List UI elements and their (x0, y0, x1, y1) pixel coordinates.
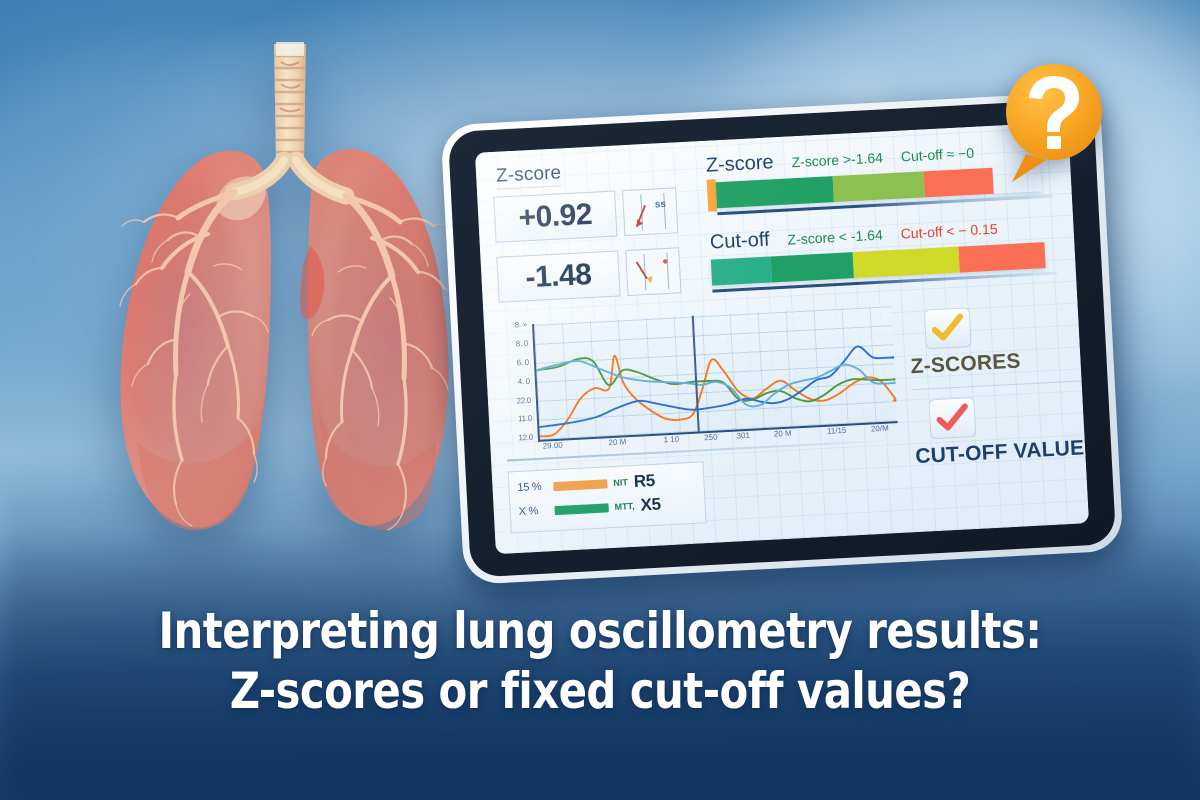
chart-x-tick-label: 250 (704, 433, 718, 443)
checkbox-cutoff-values[interactable] (928, 397, 976, 439)
chart-series-svg (534, 305, 898, 440)
check-icon-amber (930, 312, 966, 344)
bar-segment (833, 171, 925, 202)
chart-y-tick-label: 4. 0 (518, 376, 531, 386)
legend-swatch (554, 503, 608, 515)
oscillometry-chart[interactable]: 8. »8. 06. 04. 022.011.012.0 29.0020 M1 … (500, 305, 902, 533)
chart-series-R5 (536, 341, 898, 437)
bar-segment (770, 252, 854, 282)
chart-x-tick-label: 1 10 (663, 435, 679, 445)
chart-y-tick-label: 8. 0 (516, 339, 529, 349)
mini-trace-down-icon (625, 247, 681, 296)
bar-note-zscore-threshold: Z-score >-1.64 (791, 149, 883, 170)
chart-series-trace-dark-blue (536, 345, 897, 427)
question-badge[interactable] (996, 58, 1112, 186)
legend-series-name: X5 (640, 495, 661, 516)
cutoff-value-box[interactable]: -1.48 (496, 250, 620, 302)
headline-line-2: Z-scores or fixed cut-off values? (42, 662, 1158, 722)
bar-segment (959, 242, 1046, 272)
decision-label-cutoff-values: CUT-OFF VALUES (915, 436, 1089, 470)
mini-trace-up-icon: ss (622, 187, 678, 236)
chart-y-tick-label: 22.0 (516, 395, 531, 405)
decision-cutoff-values[interactable]: CUT-OFF VALUES (912, 391, 1089, 469)
lungs-illustration (78, 22, 498, 562)
results-top-section: Z-score +0.92 ss (492, 137, 1061, 320)
zscore-row: +0.92 ss (493, 186, 695, 242)
chart-x-tick-label: 29.00 (542, 441, 562, 451)
chart-y-tick-label: 8. » (515, 320, 528, 330)
bar-group-cutoff: Cut-off Z-score < -1.64 Cut-off < − 0.15 (709, 213, 1060, 292)
legend-unit: MTT, (614, 501, 634, 512)
decision-zscores[interactable]: Z-SCORES (908, 301, 1089, 379)
bar-segment (924, 168, 994, 198)
chart-x-tick-label: 20/M (871, 424, 889, 434)
zscore-panel: Z-score +0.92 ss (492, 155, 700, 319)
chart-y-tick-label: 6. 0 (517, 358, 530, 368)
tablet-screen[interactable]: Z-score +0.92 ss (475, 122, 1089, 555)
chart-y-axis: 8. »8. 06. 04. 022.011.012.0 (500, 324, 537, 457)
chart-legend: 15 % NIT R5 X % MTT, X5 (508, 461, 707, 533)
chart-plot: 8. »8. 06. 04. 022.011.012.0 29.0020 M1 … (500, 305, 898, 457)
bar-group-title: Cut-off (709, 229, 770, 255)
bar-note-zscore-threshold: Z-score < -1.64 (787, 227, 883, 248)
chart-y-tick-label: 11.0 (518, 414, 532, 424)
zscore-value-box[interactable]: +0.92 (493, 191, 617, 243)
legend-swatch (553, 479, 607, 491)
bar-note-cutoff-threshold: Cut-off ≈ −0 (900, 145, 974, 165)
decision-label-zscores: Z-SCORES (910, 346, 1089, 380)
mini-trace-sub-label: ss (655, 199, 667, 211)
bar-segment (716, 176, 834, 208)
chart-x-tick-label: 301 (736, 431, 750, 441)
chart-y-tick-label: 12.0 (518, 433, 533, 443)
zscore-row: -1.48 (496, 246, 698, 302)
bar-group-title: Z-score (705, 151, 774, 178)
headline-line-1: Interpreting lung oscillometry results: (42, 602, 1158, 662)
legend-unit: NIT (613, 477, 628, 488)
legend-percent: X % (518, 504, 549, 518)
checkbox-zscores[interactable] (924, 307, 972, 349)
chart-x-tick-label: 20 M (608, 437, 626, 447)
legend-percent: 15 % (517, 480, 548, 494)
decision-panel: Z-SCORES CUT-OFF VALUES (901, 295, 1089, 513)
headline: Interpreting lung oscillometry results: … (0, 602, 1200, 721)
human-lungs-anatomy-icon (78, 22, 498, 562)
results-mid-section: 8. »8. 06. 04. 022.011.012.0 29.0020 M1 … (500, 296, 1072, 533)
legend-item[interactable]: X % MTT, X5 (518, 493, 697, 522)
check-icon-red (935, 402, 971, 434)
bar-segment (711, 257, 772, 286)
legend-series-name: R5 (633, 471, 655, 492)
chart-plot-area (532, 305, 898, 442)
bar-segment (853, 247, 960, 279)
chart-x-tick-label: 11/15 (827, 426, 847, 436)
decision-divider (912, 380, 1089, 391)
zscore-panel-heading: Z-score (496, 162, 562, 189)
chart-x-tick-label: 20 M (774, 429, 792, 439)
chart-series-X5 (536, 342, 896, 416)
question-mark-badge-icon (996, 58, 1112, 186)
bar-note-cutoff-threshold: Cut-off < − 0.15 (900, 221, 998, 242)
